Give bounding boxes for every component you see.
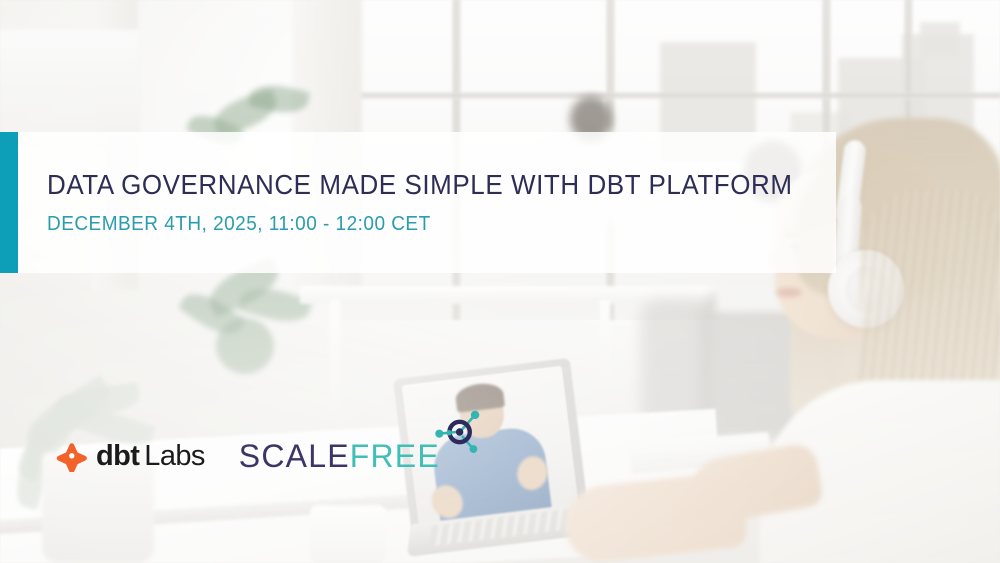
dbt-labs-wordmark: dbtLabs <box>96 442 205 471</box>
banner-title: DATA GOVERNANCE MADE SIMPLE WITH DBT PLA… <box>47 170 793 199</box>
desk-leg <box>330 300 340 410</box>
banner-content: DATA GOVERNANCE MADE SIMPLE WITH DBT PLA… <box>18 132 836 273</box>
dbt-x-mark-icon <box>56 440 88 472</box>
banner-subtitle: DECEMBER 4TH, 2025, 11:00 - 12:00 CET <box>47 214 797 235</box>
scalefree-logo: SCALEFREE <box>239 440 440 474</box>
city-skyline-building <box>920 22 960 58</box>
background-photo <box>0 0 1000 563</box>
promo-banner-image: DATA GOVERNANCE MADE SIMPLE WITH DBT PLA… <box>0 0 1000 563</box>
desk-leg <box>600 300 610 408</box>
event-banner: DATA GOVERNANCE MADE SIMPLE WITH DBT PLA… <box>0 132 734 273</box>
scalefree-word-first: SCALE <box>239 438 350 474</box>
window-mullion <box>330 92 1000 99</box>
scalefree-molecule-icon <box>432 406 484 458</box>
banner-accent-bar <box>0 132 18 273</box>
scalefree-word-second: FREE <box>350 438 440 474</box>
coffee-mug <box>310 505 386 563</box>
logo-row: dbtLabs <box>56 440 440 474</box>
dbt-word-bold: dbt <box>96 440 139 472</box>
dbt-word-light: Labs <box>144 440 205 472</box>
dbt-labs-logo: dbtLabs <box>56 440 205 474</box>
scalefree-wordmark: SCALEFREE <box>239 438 440 474</box>
woman-lips <box>776 288 802 297</box>
